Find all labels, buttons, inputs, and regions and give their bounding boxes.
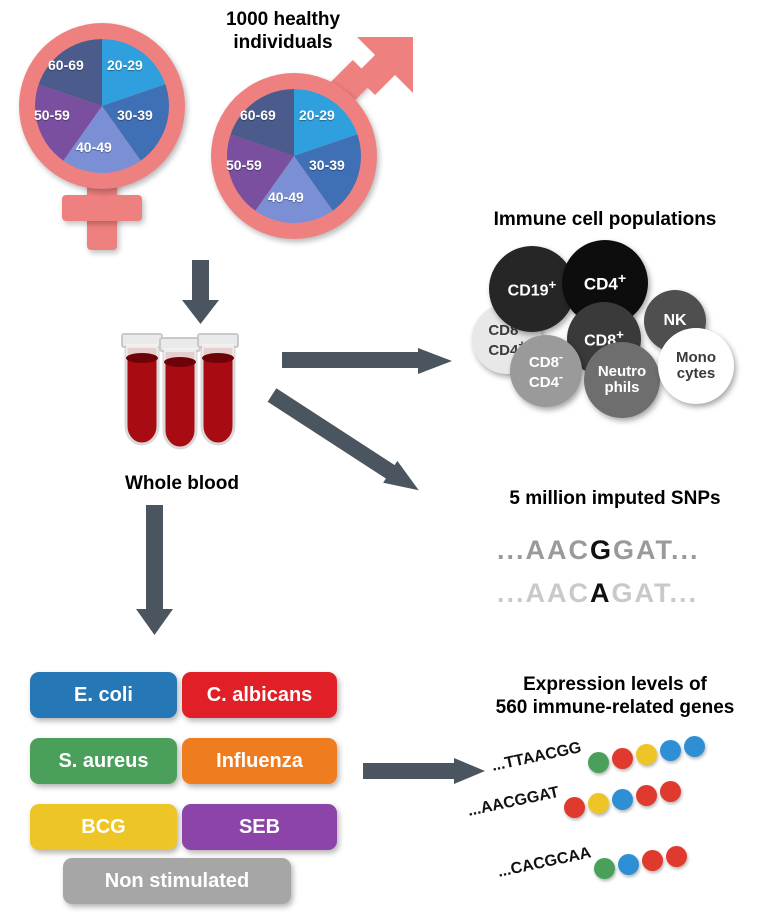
cohort-title-line1: 1000 healthy xyxy=(168,8,398,31)
immune-title: Immune cell populations xyxy=(455,208,755,231)
snp-line1-variant: G xyxy=(590,535,613,565)
whole-blood-label: Whole blood xyxy=(92,472,272,495)
gene-strand-3-text: ...CACGCAA xyxy=(496,844,593,881)
male-symbol: 20-29 30-39 40-49 50-59 60-69 xyxy=(205,35,420,250)
gene-strand-2-bead-1 xyxy=(564,797,585,818)
gene-strand-1-bead-1 xyxy=(588,752,609,773)
gene-strand-2-text: ...AACGGAT xyxy=(466,784,561,821)
snp-line2-prefix: ...AAC xyxy=(497,578,590,608)
stimulus-non-stimulated[interactable]: Non stimulated xyxy=(63,858,291,904)
snp-line1-prefix: ...AAC xyxy=(497,535,590,565)
cell-cd8neg-cd4neg-sup2: - xyxy=(559,370,563,384)
cell-cd4pos-label: CD4 xyxy=(584,275,618,294)
cell-cd8neg-cd4neg-label1: CD8 xyxy=(529,354,559,371)
male-age-label-30-39: 30-39 xyxy=(309,157,345,173)
cell-cd8neg-cd4neg-sup1: - xyxy=(559,350,563,364)
male-age-label-50-59: 50-59 xyxy=(226,157,262,173)
stimulus-c-albicans[interactable]: C. albicans xyxy=(182,672,337,718)
immune-cell-cluster: CD8+ CD4+ CD19+ CD4+ CD8+ NK CD8- CD4- N… xyxy=(462,240,757,415)
cell-monocytes-label1: Mono xyxy=(676,349,716,366)
cell-cd8neg-cd4neg: CD8- CD4- xyxy=(510,335,582,407)
arrow-cohort-to-blood xyxy=(178,260,224,326)
female-age-label-40-49: 40-49 xyxy=(76,139,112,155)
snp-line1-suffix: GAT... xyxy=(613,535,700,565)
gene-strand-2: ...AACGGAT xyxy=(468,785,758,835)
expression-title: Expression levels of 560 immune-related … xyxy=(465,673,765,719)
gene-strand-1-text: ...TTAACGG xyxy=(490,739,583,776)
stimulus-s-aureus[interactable]: S. aureus xyxy=(30,738,177,784)
gene-strand-1: ...TTAACGG xyxy=(492,740,762,790)
arrow-blood-to-stimuli xyxy=(132,505,178,640)
gene-strand-1-bead-5 xyxy=(684,736,705,757)
male-age-label-40-49: 40-49 xyxy=(268,189,304,205)
stimulus-e-coli-label: E. coli xyxy=(74,684,133,707)
gene-strand-1-bead-4 xyxy=(660,740,681,761)
stimulus-seb-label: SEB xyxy=(239,816,280,839)
stimulus-bcg[interactable]: BCG xyxy=(30,804,177,850)
stimulus-e-coli[interactable]: E. coli xyxy=(30,672,177,718)
snp-line2-variant: A xyxy=(590,578,612,608)
snp-title: 5 million imputed SNPs xyxy=(470,487,760,510)
female-age-label-50-59: 50-59 xyxy=(34,107,70,123)
arrow-blood-to-immune xyxy=(282,330,457,380)
female-stem-horizontal xyxy=(62,195,142,221)
cell-cd4pos-sup: + xyxy=(618,271,626,287)
cell-monocytes: Mono cytes xyxy=(658,328,734,404)
blood-tubes-svg xyxy=(112,330,252,460)
male-age-label-60-69: 60-69 xyxy=(240,107,276,123)
cell-neutrophils-label2: phils xyxy=(604,379,639,396)
cell-cd19pos-sup: + xyxy=(549,277,557,292)
snp-line2-suffix: GAT... xyxy=(612,578,699,608)
cell-cd8pos-sup: + xyxy=(616,327,624,342)
female-age-label-30-39: 30-39 xyxy=(117,107,153,123)
cell-monocytes-label2: cytes xyxy=(677,365,715,382)
female-symbol: 20-29 30-39 40-49 50-59 60-69 xyxy=(10,15,195,245)
female-age-label-60-69: 60-69 xyxy=(48,57,84,73)
gene-strand-3-bead-1 xyxy=(594,858,615,879)
male-age-label-20-29: 20-29 xyxy=(299,107,335,123)
arrow-blood-to-snps xyxy=(272,395,457,545)
gene-strand-2-bead-3 xyxy=(612,789,633,810)
cell-cd8neg-cd4neg-label2: CD4 xyxy=(529,374,559,391)
gene-strand-3-bead-4 xyxy=(666,846,687,867)
stimulus-bcg-label: BCG xyxy=(81,816,125,839)
stimulus-seb[interactable]: SEB xyxy=(182,804,337,850)
female-age-label-20-29: 20-29 xyxy=(107,57,143,73)
snp-sequence-line-2: ...AACAGAT... xyxy=(497,578,698,609)
stimulus-influenza[interactable]: Influenza xyxy=(182,738,337,784)
gene-strand-2-bead-4 xyxy=(636,785,657,806)
cell-neutrophils-label1: Neutro xyxy=(598,363,646,380)
gene-strand-3: ...CACGCAA xyxy=(498,846,768,896)
blood-tubes xyxy=(112,330,252,460)
stimulus-non-stimulated-label: Non stimulated xyxy=(105,870,249,893)
gene-strand-3-bead-2 xyxy=(618,854,639,875)
stimulus-influenza-label: Influenza xyxy=(216,750,303,773)
expression-title-line2: 560 immune-related genes xyxy=(465,696,765,719)
expression-title-line1: Expression levels of xyxy=(465,673,765,696)
gene-strand-2-bead-5 xyxy=(660,781,681,802)
stimulus-c-albicans-label: C. albicans xyxy=(207,684,313,707)
cell-nk-label: NK xyxy=(663,313,686,330)
gene-strand-1-bead-3 xyxy=(636,744,657,765)
cell-neutrophils: Neutro phils xyxy=(584,342,660,418)
stimulus-s-aureus-label: S. aureus xyxy=(58,750,148,773)
gene-strand-1-bead-2 xyxy=(612,748,633,769)
snp-sequence-line-1: ...AACGGAT... xyxy=(497,535,700,566)
gene-strand-2-bead-2 xyxy=(588,793,609,814)
cell-cd19pos-label: CD19 xyxy=(508,282,549,299)
gene-strand-3-bead-3 xyxy=(642,850,663,871)
